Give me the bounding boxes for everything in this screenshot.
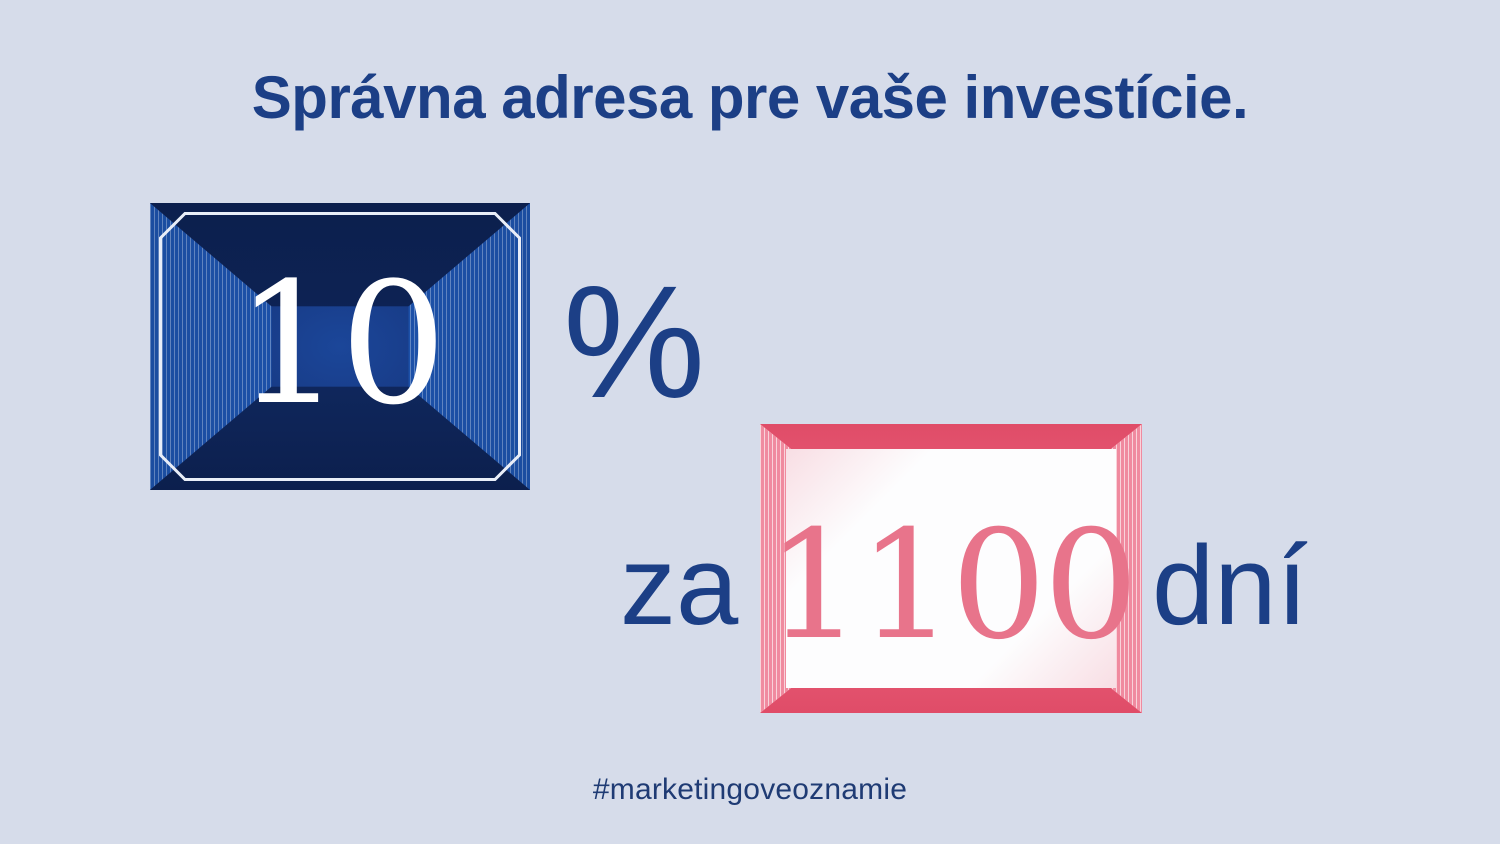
term-prefix-label: za bbox=[620, 521, 738, 651]
rate-value: 10 bbox=[150, 203, 530, 490]
campaign-hashtag: #marketingoveoznamie bbox=[0, 773, 1500, 807]
pink-frame-inner-plate bbox=[786, 449, 1116, 688]
term-card-frame bbox=[760, 424, 1142, 713]
rate-card-frame: 10 bbox=[150, 203, 530, 490]
page-title: Správna adresa pre vaše investície. bbox=[0, 63, 1500, 132]
term-suffix-label: dní bbox=[1152, 521, 1308, 651]
percent-symbol: % bbox=[563, 262, 705, 422]
term-line: za 1100 dní bbox=[0, 521, 1500, 651]
ad-canvas: Správna adresa pre vaše investície. 10 %… bbox=[0, 0, 1500, 844]
